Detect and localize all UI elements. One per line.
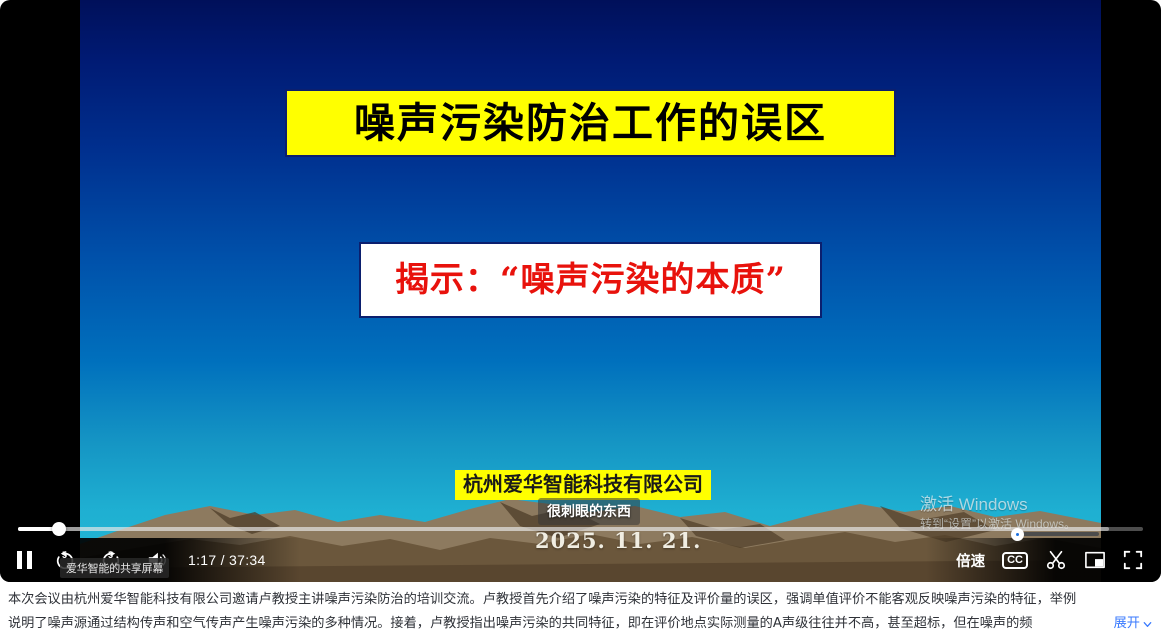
fullscreen-icon [1123,550,1143,570]
volume-thumb-handle[interactable] [1011,528,1024,541]
fullscreen-button[interactable] [1123,550,1143,570]
slide-title-text: 噪声污染防治工作的误区 [354,103,827,144]
description-line-2: 说明了噪声源通过结构传声和空气传声产生噪声污染的多种情况。接着，卢教授指出噪声污… [8,612,1106,636]
slide-title-box: 噪声污染防治工作的误区 [285,89,896,157]
video-stage[interactable]: 噪声污染防治工作的误区 揭示：“噪声污染的本质” 杭州爱华智能科技有限公司 很刺… [80,0,1101,582]
picture-in-picture-icon [1084,550,1106,570]
picture-in-picture-button[interactable] [1084,550,1106,570]
video-player[interactable]: 噪声污染防治工作的误区 揭示：“噪声污染的本质” 杭州爱华智能科技有限公司 很刺… [0,0,1161,582]
closed-captions-button[interactable]: CC [1002,552,1028,569]
expand-label: 展开 [1114,612,1140,636]
description-line-2-row: 说明了噪声源通过结构传声和空气传声产生噪声污染的多种情况。接着，卢教授指出噪声污… [8,612,1153,636]
progress-buffered [18,527,1109,531]
description-line-1: 本次会议由杭州爱华智能科技有限公司邀请卢教授主讲噪声污染防治的培训交流。卢教授首… [8,588,1153,612]
playback-speed-button[interactable]: 倍速 [956,550,985,571]
progress-thumb-handle[interactable] [52,522,66,536]
description-line-2-text: 说明了噪声源通过结构传声和空气传声产生噪声污染的多种情况。接着，卢教授指出噪声污… [8,616,1032,631]
time-display: 1:17 / 37:34 [188,552,266,568]
slide-company-text: 杭州爱华智能科技有限公司 [463,472,703,496]
danmaku-text: 很刺眼的东西 [547,504,631,520]
pause-button[interactable] [16,550,34,570]
volume-track[interactable] [1011,532,1099,536]
expand-description-link[interactable]: 展开 [1114,612,1153,636]
player-control-bar[interactable]: 5 5 1:17 / 37:34 爱华智能 [0,538,1161,582]
scissors-icon [1045,549,1067,571]
slide-subtitle-box: 揭示：“噪声污染的本质” [359,242,822,318]
progress-bar[interactable] [0,520,1161,538]
player-controls-right: 倍速 CC [926,538,1161,582]
slide-subtitle-text: 揭示：“噪声污染的本质” [395,263,786,297]
clip-button[interactable] [1045,549,1067,571]
video-description: 本次会议由杭州爱华智能科技有限公司邀请卢教授主讲噪声污染防治的培训交流。卢教授首… [0,588,1161,636]
volume-slider[interactable] [1011,527,1099,541]
slide-company-box: 杭州爱华智能科技有限公司 [455,470,711,500]
description-fade-mask [1046,612,1106,636]
share-screen-tooltip: 爱华智能的共享屏幕 [60,558,169,578]
pause-icon [16,550,34,570]
chevron-down-icon [1142,619,1153,630]
progress-track[interactable] [18,527,1143,531]
